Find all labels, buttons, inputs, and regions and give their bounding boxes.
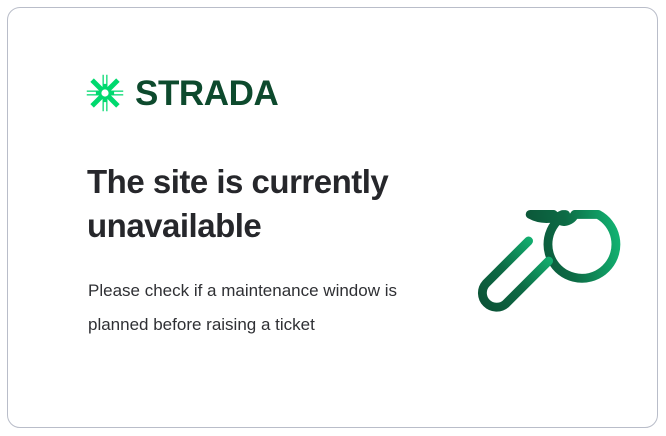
page-root: STRADA The site is currently unavailable…: [0, 0, 666, 436]
page-description: Please check if a maintenance window is …: [88, 274, 398, 342]
status-card: STRADA The site is currently unavailable…: [7, 7, 658, 428]
page-title: The site is currently unavailable: [87, 160, 427, 247]
strada-asterisk-icon: [86, 74, 124, 112]
brand-lockup: STRADA: [86, 74, 278, 112]
brand-wordmark: STRADA: [135, 76, 278, 111]
wrench-icon: [463, 158, 621, 316]
